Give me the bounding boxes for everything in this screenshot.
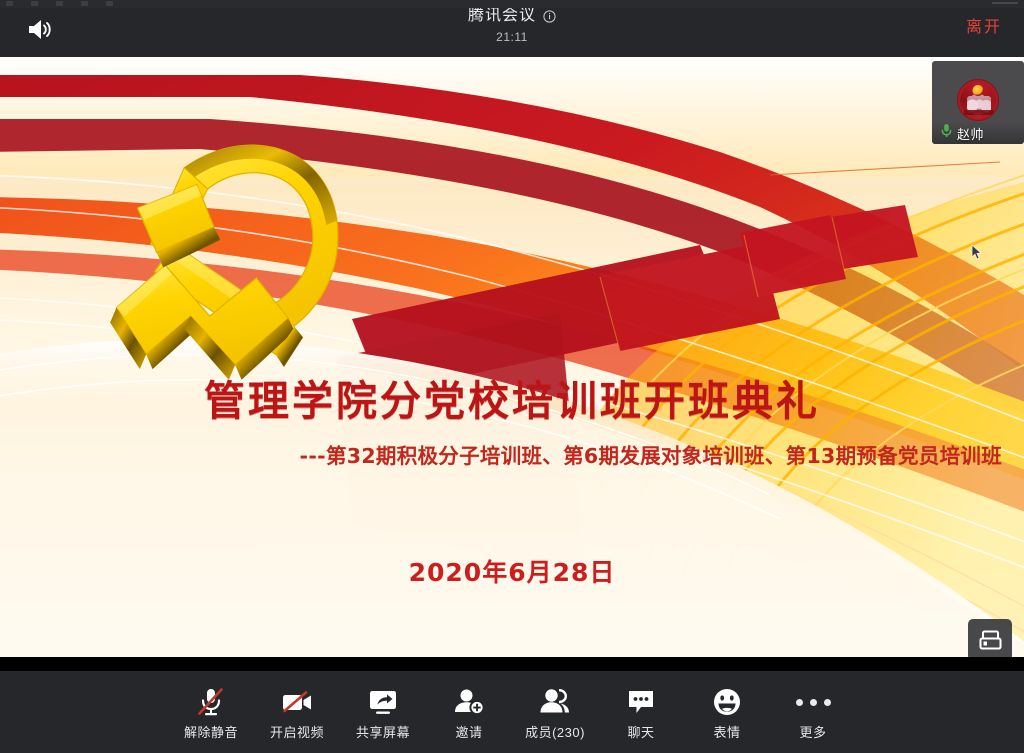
- toolbar-item-start-video[interactable]: 开启视频: [254, 676, 340, 748]
- leave-meeting-button[interactable]: 离开: [966, 17, 1002, 39]
- participant-name: 赵帅: [957, 124, 984, 143]
- toolbar-label-start-video: 开启视频: [270, 722, 324, 741]
- emoji-smile-icon: [712, 685, 742, 719]
- participant-thumbnail[interactable]: 赵帅: [932, 61, 1024, 144]
- toolbar-label-more: 更多: [799, 722, 826, 741]
- slide-title: 管理学院分党校培训班开班典礼: [0, 367, 1024, 427]
- invite-user-icon: [453, 685, 485, 719]
- share-screen-icon: [367, 685, 399, 719]
- meeting-top-bar: 腾讯会议 21:11 离开: [0, 0, 1024, 57]
- meeting-title-row: 腾讯会议: [468, 6, 556, 26]
- participant-name-row: 赵帅: [932, 122, 1024, 144]
- toolbar-label-invite: 邀请: [455, 722, 482, 741]
- toolbar-item-participants[interactable]: 成员(230): [512, 676, 598, 748]
- slide-date: 2020年6月28日: [0, 553, 1024, 589]
- stage-bottom-gap: [0, 657, 1024, 671]
- mouse-pointer-icon: [971, 245, 982, 265]
- toolbar-item-unmute[interactable]: 解除静音: [168, 676, 254, 748]
- os-status-icons: [6, 1, 113, 6]
- slide-subtitle: ---第32期积极分子培训班、第6期发展对象培训班、第13期预备党员培训班: [0, 439, 1024, 469]
- more-dots-icon: [796, 685, 831, 719]
- presentation-slide: 管理学院分党校培训班开班典礼 ---第32期积极分子培训班、第6期发展对象培训班…: [0, 57, 1024, 657]
- slide-text-block: 管理学院分党校培训班开班典礼 ---第32期积极分子培训班、第6期发展对象培训班…: [0, 57, 1024, 657]
- camera-off-icon: [280, 685, 314, 719]
- toolbar-item-emoji[interactable]: 表情: [684, 676, 770, 748]
- school-emblem-avatar: [957, 79, 999, 121]
- microphone-muted-icon: [196, 685, 226, 719]
- speaker-volume-icon: [27, 18, 54, 41]
- toolbar-item-more[interactable]: 更多: [770, 676, 856, 748]
- toolbar-item-chat[interactable]: 聊天: [598, 676, 684, 748]
- chat-bubble-icon: [626, 685, 656, 719]
- toolbar-label-share-screen: 共享屏幕: [356, 722, 410, 741]
- toolbar-item-share-screen[interactable]: 共享屏幕: [340, 676, 426, 748]
- toolbar-label-participants: 成员(230): [525, 722, 585, 741]
- toolbar-label-chat: 聊天: [627, 722, 654, 741]
- layout-view-button[interactable]: [968, 619, 1012, 661]
- os-status-strip: [0, 0, 1024, 8]
- info-circle-icon[interactable]: [543, 10, 556, 23]
- layout-view-icon: [978, 629, 1003, 651]
- os-status-right: [992, 2, 1018, 4]
- toolbar-item-invite[interactable]: 邀请: [426, 676, 512, 748]
- shared-content-stage: 管理学院分党校培训班开班典礼 ---第32期积极分子培训班、第6期发展对象培训班…: [0, 57, 1024, 671]
- app-title: 腾讯会议: [468, 6, 536, 26]
- toolbar-label-emoji: 表情: [713, 722, 740, 741]
- meeting-window: 腾讯会议 21:11 离开: [0, 0, 1024, 753]
- meeting-toolbar: 解除静音 开启视频 共享屏幕: [0, 671, 1024, 753]
- microphone-on-icon: [940, 123, 953, 143]
- speaker-button[interactable]: [20, 12, 60, 46]
- toolbar-label-unmute: 解除静音: [184, 722, 238, 741]
- meeting-elapsed-time: 21:11: [496, 30, 528, 44]
- participants-icon: [539, 685, 571, 719]
- meeting-info-center: 腾讯会议 21:11: [0, 6, 1024, 44]
